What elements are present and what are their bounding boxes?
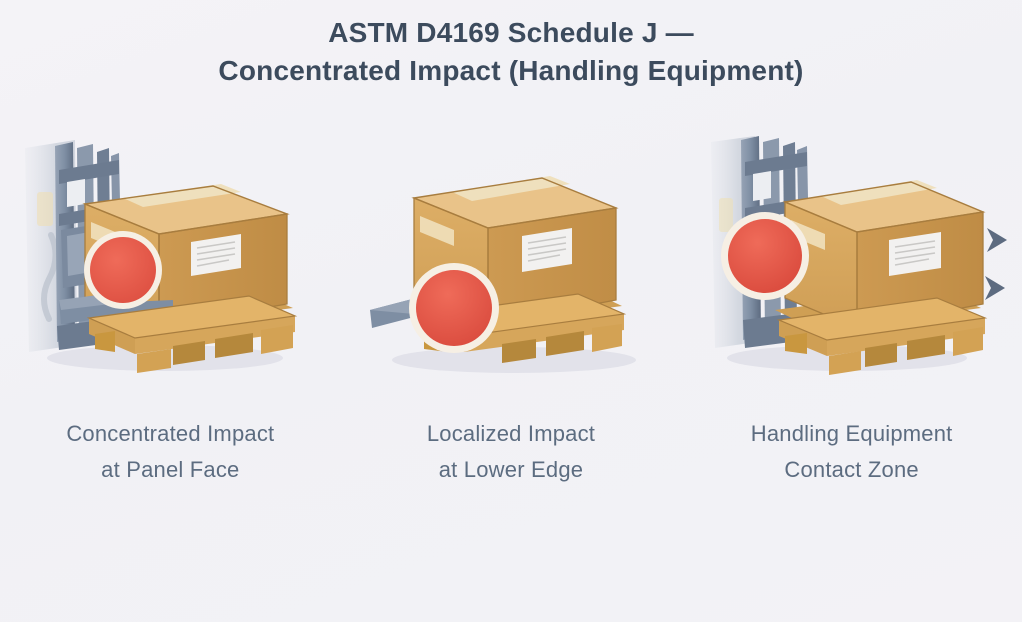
illustration-panels: Concentrated Impact at Panel Face: [0, 130, 1022, 510]
impact-zone-contact: [728, 219, 802, 293]
panel-caption-3: Handling Equipment Contact Zone: [751, 416, 953, 488]
page-title-line-2: Concentrated Impact (Handling Equipment): [0, 52, 1022, 90]
illustration-panel-face: [15, 130, 325, 380]
panel-localized-impact: Localized Impact at Lower Edge: [346, 130, 676, 488]
panel-caption-1: Concentrated Impact at Panel Face: [66, 416, 274, 488]
panel-concentrated-impact: Concentrated Impact at Panel Face: [5, 130, 335, 488]
impact-zone-lower-edge: [416, 270, 492, 346]
motion-arrows: [985, 228, 1007, 300]
mast-brace-window: [753, 171, 771, 201]
ghost-highlight: [37, 192, 53, 226]
motion-arrow-1: [987, 228, 1007, 252]
page-title-line-1: ASTM D4169 Schedule J —: [0, 14, 1022, 52]
pallet-block-left: [95, 331, 115, 352]
impact-zone-panel-face: [90, 237, 156, 303]
pallet-foot-right: [953, 327, 983, 356]
motion-arrow-2: [985, 276, 1005, 300]
illustration-contact-zone: [697, 130, 1007, 380]
title-block: ASTM D4169 Schedule J — Concentrated Imp…: [0, 14, 1022, 90]
pallet-block-left: [785, 333, 807, 354]
panel-caption-2: Localized Impact at Lower Edge: [427, 416, 595, 488]
panel-contact-zone: Handling Equipment Contact Zone: [687, 130, 1017, 488]
slide-canvas: ASTM D4169 Schedule J — Concentrated Imp…: [0, 0, 1022, 622]
pallet-foot-right: [592, 324, 622, 352]
illustration-lower-edge: [356, 130, 666, 380]
pallet-foot-right: [261, 325, 293, 354]
mast-brace-window: [67, 179, 85, 207]
ghost-highlight: [719, 198, 733, 232]
